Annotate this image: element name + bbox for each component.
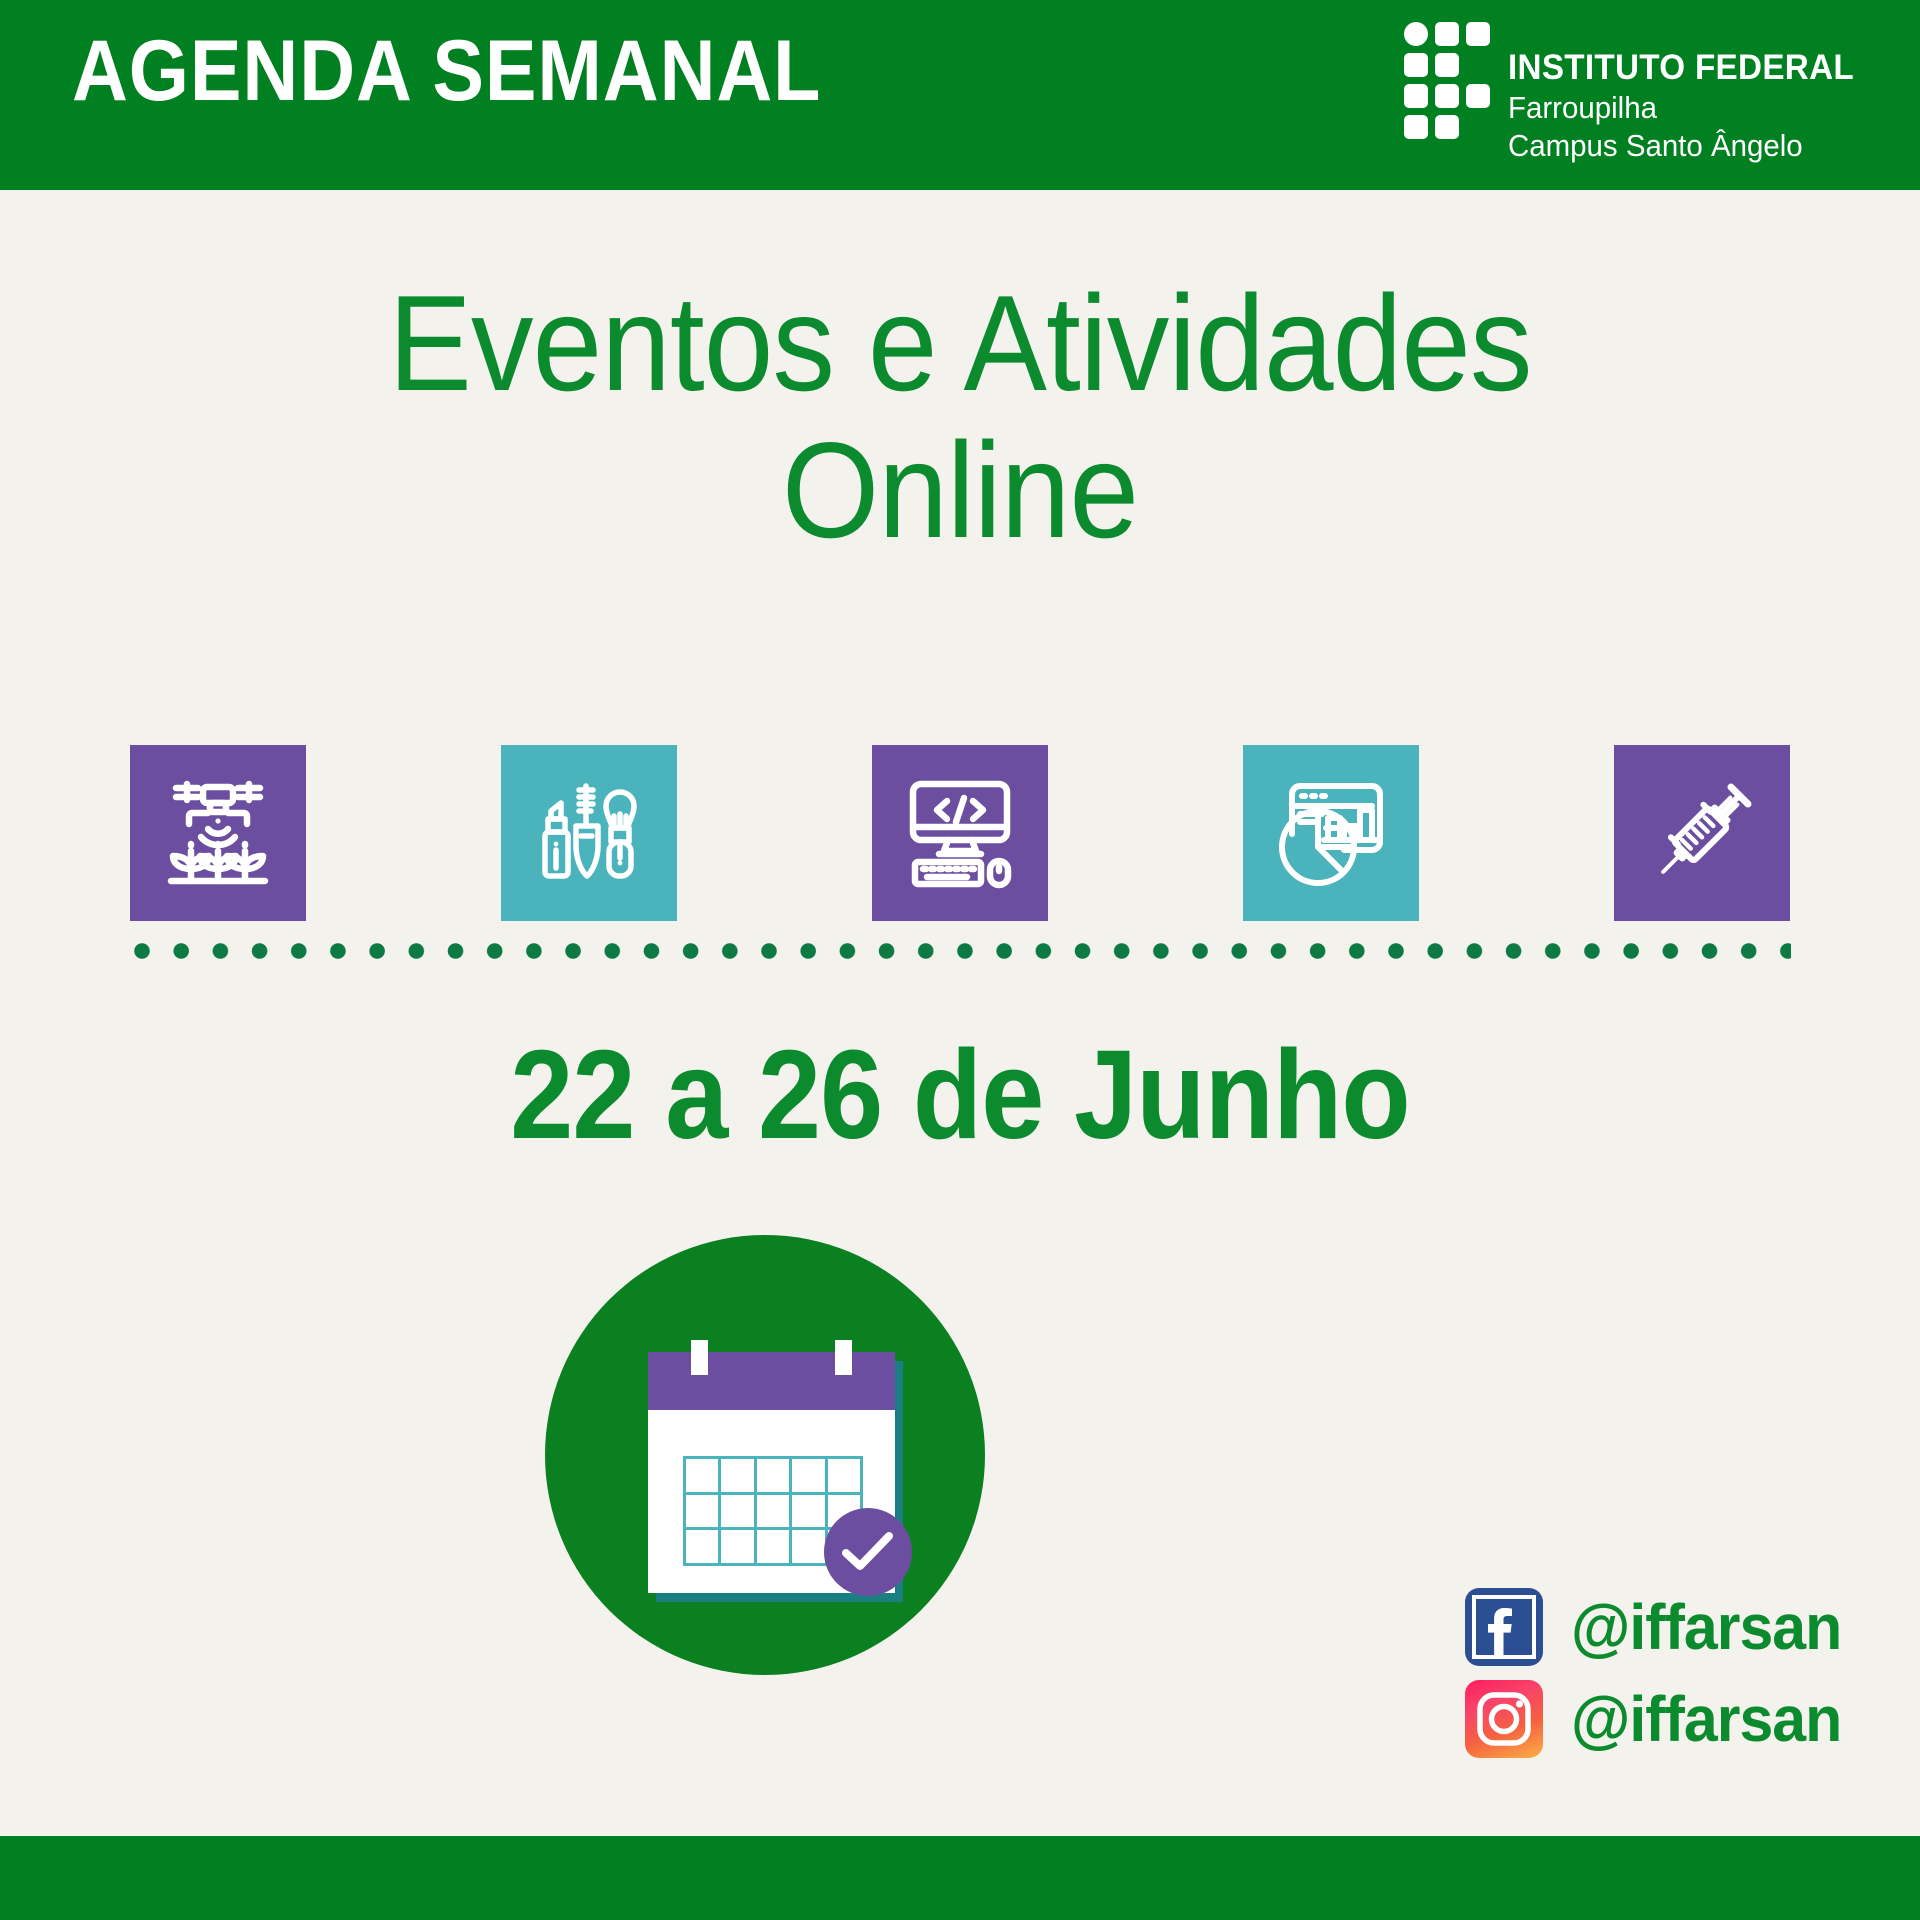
calendar-cell [792,1495,824,1528]
calendar-cell [686,1530,718,1563]
calendar-cell [686,1459,718,1492]
calendar-check-badge [824,1508,912,1596]
logo-line-unit: Farroupilha [1508,92,1854,123]
calendar-cell [792,1530,824,1563]
calendar-check-icon [648,1352,903,1602]
social-links: @iffarsan @iffarsan [1465,1588,1856,1758]
syringe-vaccine-icon [1614,745,1790,921]
banner-title: AGENDA SEMANAL [72,28,821,114]
agriculture-drone-icon [130,745,306,921]
instagram-handle[interactable]: @iffarsan [1571,1687,1841,1751]
calendar-cell [757,1495,789,1528]
dotted-divider [131,940,1791,962]
header-banner: AGENDA SEMANAL INSTITUTO FEDERAL Farroup… [0,0,1920,190]
instagram-icon[interactable] [1465,1680,1543,1758]
topic-icon-row [130,745,1790,921]
calendar-cell [721,1530,753,1563]
calendar-cell [686,1495,718,1528]
analytics-chart-icon [1243,745,1419,921]
footer-bar [0,1836,1920,1920]
calendar-header-band [648,1352,895,1410]
logo-line-institution: INSTITUTO FEDERAL [1508,50,1854,85]
cosmetics-makeup-icon [501,745,677,921]
social-row-instagram[interactable]: @iffarsan [1465,1680,1856,1758]
calendar-cell [721,1495,753,1528]
calendar-ring-left [691,1340,708,1375]
date-range-label: 22 a 26 de Junho [96,1032,1824,1158]
page-title: Eventos e Atividades Online [77,270,1843,564]
calendar-cell [757,1459,789,1492]
logo-line-campus: Campus Santo Ângelo [1508,130,1854,161]
page-title-line-1: Eventos e Atividades [388,267,1531,419]
calendar-cell [757,1530,789,1563]
instituto-federal-logo: INSTITUTO FEDERAL Farroupilha Campus San… [1404,22,1872,161]
calendar-ring-right [835,1340,852,1375]
computer-code-icon [872,745,1048,921]
facebook-icon[interactable] [1465,1588,1543,1666]
facebook-handle[interactable]: @iffarsan [1571,1595,1841,1659]
instituto-federal-logo-icon [1404,22,1490,144]
calendar-cell [828,1459,860,1492]
page-title-line-2: Online [77,417,1843,564]
logo-text-block: INSTITUTO FEDERAL Farroupilha Campus San… [1508,22,1872,161]
calendar-cell [721,1459,753,1492]
calendar-cell [792,1459,824,1492]
social-row-facebook[interactable]: @iffarsan [1465,1588,1856,1666]
